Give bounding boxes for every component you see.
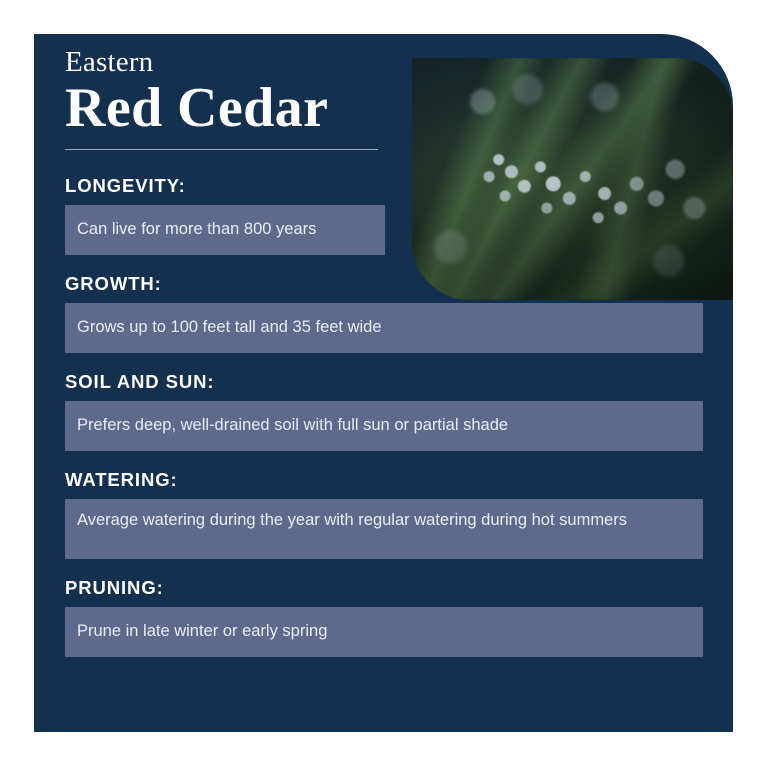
fact-row-soil-and-sun: SOIL AND SUN: Prefers deep, well-drained… <box>65 371 703 451</box>
fact-value: Prefers deep, well-drained soil with ful… <box>65 401 703 451</box>
title-superline: Eastern <box>65 48 378 77</box>
plant-fact-card: Eastern Red Cedar LONGEVITY: Can live fo… <box>34 34 733 732</box>
fact-label: GROWTH: <box>65 273 703 295</box>
page-canvas: Eastern Red Cedar LONGEVITY: Can live fo… <box>0 0 768 767</box>
fact-value: Grows up to 100 feet tall and 35 feet wi… <box>65 303 703 353</box>
fact-value: Prune in late winter or early spring <box>65 607 703 657</box>
fact-list: LONGEVITY: Can live for more than 800 ye… <box>65 175 703 675</box>
fact-value: Can live for more than 800 years <box>65 205 385 255</box>
title-mainline: Red Cedar <box>65 79 378 138</box>
fact-label: SOIL AND SUN: <box>65 371 703 393</box>
fact-row-growth: GROWTH: Grows up to 100 feet tall and 35… <box>65 273 703 353</box>
fact-label: PRUNING: <box>65 577 703 599</box>
fact-label: LONGEVITY: <box>65 175 703 197</box>
card-title-block: Eastern Red Cedar <box>65 48 378 150</box>
fact-row-pruning: PRUNING: Prune in late winter or early s… <box>65 577 703 657</box>
fact-row-longevity: LONGEVITY: Can live for more than 800 ye… <box>65 175 703 255</box>
fact-row-watering: WATERING: Average watering during the ye… <box>65 469 703 559</box>
fact-label: WATERING: <box>65 469 703 491</box>
title-divider <box>65 149 378 150</box>
fact-value: Average watering during the year with re… <box>65 499 703 559</box>
